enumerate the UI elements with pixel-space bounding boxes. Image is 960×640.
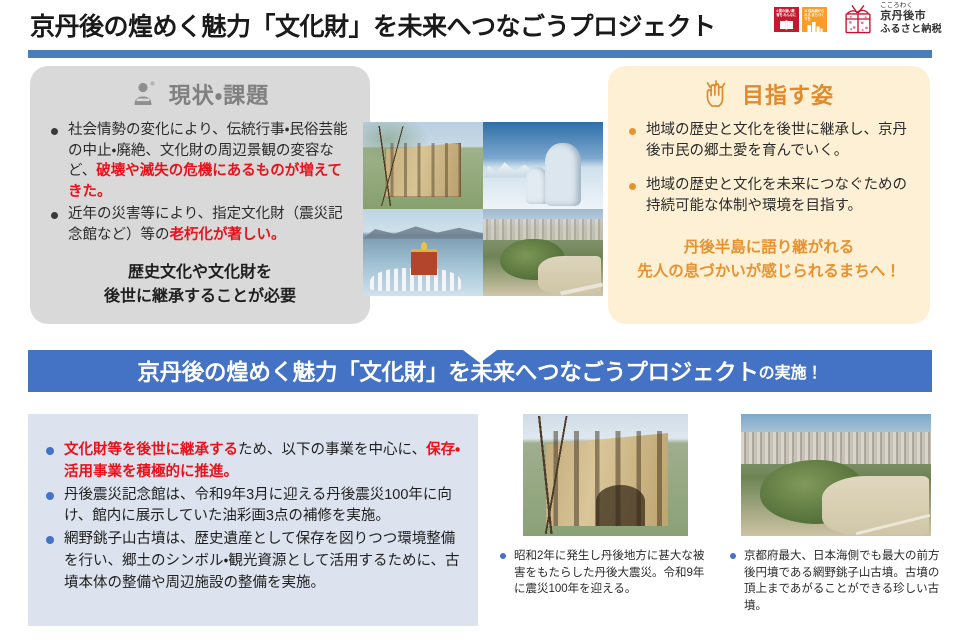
header-logo-group: 4 質の高い教育を みんなに 11 住み続けられる まちづくりを: [774, 2, 942, 36]
photo-tango-earthquake-memorial-hall: [523, 414, 688, 536]
list-item: 網野銚子山古墳は、歴史遺産として保存を図りつつ環境整備を行い、郷土のシンボル・観…: [38, 529, 464, 594]
lower-section: 文化財等を後世に継承するため、以下の事業を中心に、保存・活用事業を積極的に推進。…: [0, 400, 960, 640]
sdg-goal-11-glyph: [804, 21, 825, 34]
photo-stone-schoolhouse: [363, 122, 483, 209]
vision-conclusion: 丹後半島に語り継がれる 先人の息づかいが感じられるまちへ！: [624, 236, 914, 283]
photo-mikoshi-sea-festival: [363, 209, 483, 296]
photo-sea-hills: [363, 221, 483, 238]
sdg-goal-4-label: 4 質の高い教育を みんなに: [776, 9, 797, 18]
troubled-person-icon: [131, 79, 161, 109]
upper-section: 現状・課題 社会情勢の変化により、伝統行事・民俗芸能の中止・廃絶、文化財の周辺景…: [0, 66, 960, 336]
initiatives-list: 文化財等を後世に継承するため、以下の事業を中心に、保存・活用事業を積極的に推進。…: [38, 440, 464, 594]
current-issues-title: 現状・課題: [169, 78, 269, 110]
list-item: 文化財等を後世に継承するため、以下の事業を中心に、保存・活用事業を積極的に推進。: [38, 440, 464, 484]
vision-list: 地域の歴史と文化を後世に継承し、京丹後市民の郷土愛を育んでいく。 地域の歴史と文…: [624, 120, 914, 216]
furusato-text-block: こころわく 京丹後市 ふるさと納税: [880, 2, 942, 36]
memorial-hall-caption: 昭和2年に発生し丹後地方に甚大な被害をもたらした丹後大震災。令和9年に震災100…: [498, 548, 713, 598]
photo-kofun-sand: [822, 476, 928, 535]
photo-snow-figure-large: [545, 143, 581, 206]
kofun-photo-block: 京都府最大、日本海側でも最大の前方後円墳である網野銚子山古墳。古墳の頂上まであが…: [728, 414, 943, 615]
sdg-goal-4-glyph: [776, 17, 797, 32]
vision-header: 目指す姿: [624, 78, 914, 110]
photo-building-tree: [526, 416, 569, 533]
photo-snow-sculptures: [483, 122, 603, 209]
banner-main-text: 京丹後の煌めく魅力「文化財」を未来へつなごうプロジェクト: [137, 355, 758, 387]
photo-collage: [363, 122, 603, 296]
furusato-subtitle: ふるさと納税: [880, 24, 942, 37]
page-header: 京丹後の煌めく魅力「文化財」を未来へつなごうプロジェクト 4 質の高い教育を み…: [0, 0, 960, 50]
issue-text-highlight-2: 老朽化が著しい。: [170, 227, 286, 243]
list-item: 近年の災害等により、指定文化財（震災記念館など）等の老朽化が著しい。: [46, 204, 354, 245]
photo-amino-choshiyama-kofun: [741, 414, 931, 536]
sdg-goal-11-label: 11 住み続けられる まちづくりを: [804, 9, 825, 22]
list-item: 地域の歴史と文化を後世に継承し、京丹後市民の郷土愛を育んでいく。: [624, 120, 914, 161]
sdg-goal-4-icon: 4 質の高い教育を みんなに: [774, 7, 799, 32]
banner-tail-text: の実施！: [759, 359, 823, 383]
photo-aerial-kofun: [483, 209, 603, 296]
pointing-hand-icon: [704, 80, 730, 108]
vision-title: 目指す姿: [738, 78, 834, 110]
gift-box-icon: [841, 2, 875, 36]
furusato-tax-logo: こころわく 京丹後市 ふるさと納税: [841, 2, 942, 36]
sdg-goal-11-icon: 11 住み続けられる まちづくりを: [802, 7, 827, 32]
project-banner: 京丹後の煌めく魅力「文化財」を未来へつなごうプロジェクトの実施！: [28, 350, 932, 392]
initiatives-panel: 文化財等を後世に継承するため、以下の事業を中心に、保存・活用事業を積極的に推進。…: [28, 414, 478, 626]
issue-text-highlight-1: 破壊や滅失の危機にあるものが増えてきた。: [68, 163, 342, 200]
photo-mikoshi-shrine: [411, 249, 437, 275]
initiative-plain-1: ため、以下の事業を中心に、: [238, 442, 426, 458]
photo-building-arch: [596, 485, 646, 526]
furusato-city-name: 京丹後市: [880, 10, 942, 24]
photo-aerial-town: [483, 219, 603, 240]
list-item: 社会情勢の変化により、伝統行事・民俗芸能の中止・廃絶、文化財の周辺景観の変容など…: [46, 120, 354, 202]
memorial-hall-photo-block: 昭和2年に発生し丹後地方に甚大な被害をもたらした丹後大震災。令和9年に震災100…: [498, 414, 713, 598]
photo-branch-overlay: [368, 126, 404, 206]
vision-panel: 目指す姿 地域の歴史と文化を後世に継承し、京丹後市民の郷土愛を育んでいく。 地域…: [608, 66, 930, 324]
initiative-highlight-1a: 文化財等を後世に継承する: [64, 442, 238, 458]
furusato-tagline: こころわく: [880, 2, 942, 10]
header-divider-rule: [28, 50, 932, 58]
photo-kofun-sea: [741, 414, 931, 434]
kofun-caption: 京都府最大、日本海側でも最大の前方後円墳である網野銚子山古墳。古墳の頂上まであが…: [728, 548, 943, 615]
list-item: 丹後震災記念館は、令和9年3月に迎える丹後震災100年に向け、館内に展示していた…: [38, 485, 464, 529]
current-issues-panel: 現状・課題 社会情勢の変化により、伝統行事・民俗芸能の中止・廃絶、文化財の周辺景…: [30, 66, 370, 324]
photo-kofun-town: [741, 432, 931, 464]
current-issues-header: 現状・課題: [46, 78, 354, 110]
page-title: 京丹後の煌めく魅力「文化財」を未来へつなごうプロジェクト: [30, 7, 716, 43]
list-item: 地域の歴史と文化を未来につなぐための持続可能な体制や環境を目指す。: [624, 175, 914, 216]
current-issues-conclusion: 歴史文化や文化財を 後世に継承することが必要: [46, 261, 354, 307]
current-issues-list: 社会情勢の変化により、伝統行事・民俗芸能の中止・廃絶、文化財の周辺景観の変容など…: [46, 120, 354, 245]
sdg-icon-group: 4 質の高い教育を みんなに 11 住み続けられる まちづくりを: [774, 7, 827, 32]
